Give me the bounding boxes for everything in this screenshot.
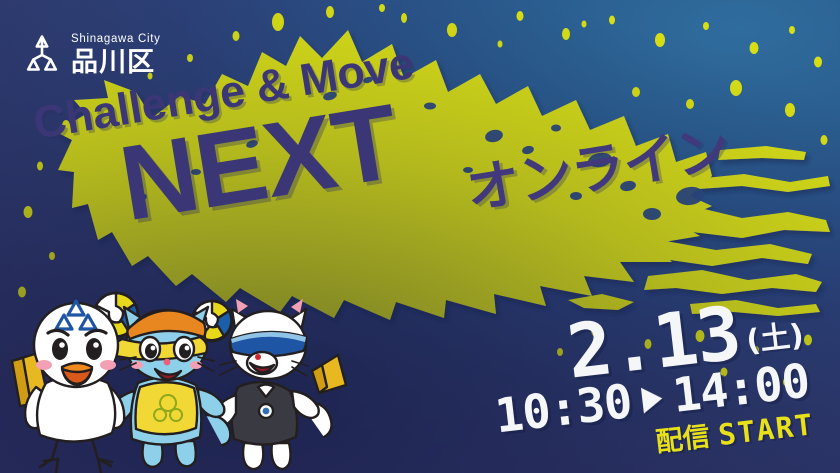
event-banner: Shinagawa City 品川区 Challenge & Move NEXT…: [0, 0, 840, 473]
mascot-group: [0, 283, 360, 473]
logo-text: Shinagawa City 品川区: [71, 34, 161, 77]
shinagawa-city-mark-icon: [22, 33, 62, 77]
logo-japanese-label: 品川区: [71, 49, 161, 76]
logo-english-label: Shinagawa City: [71, 34, 161, 46]
shinagawa-city-logo: Shinagawa City 品川区: [22, 33, 161, 77]
